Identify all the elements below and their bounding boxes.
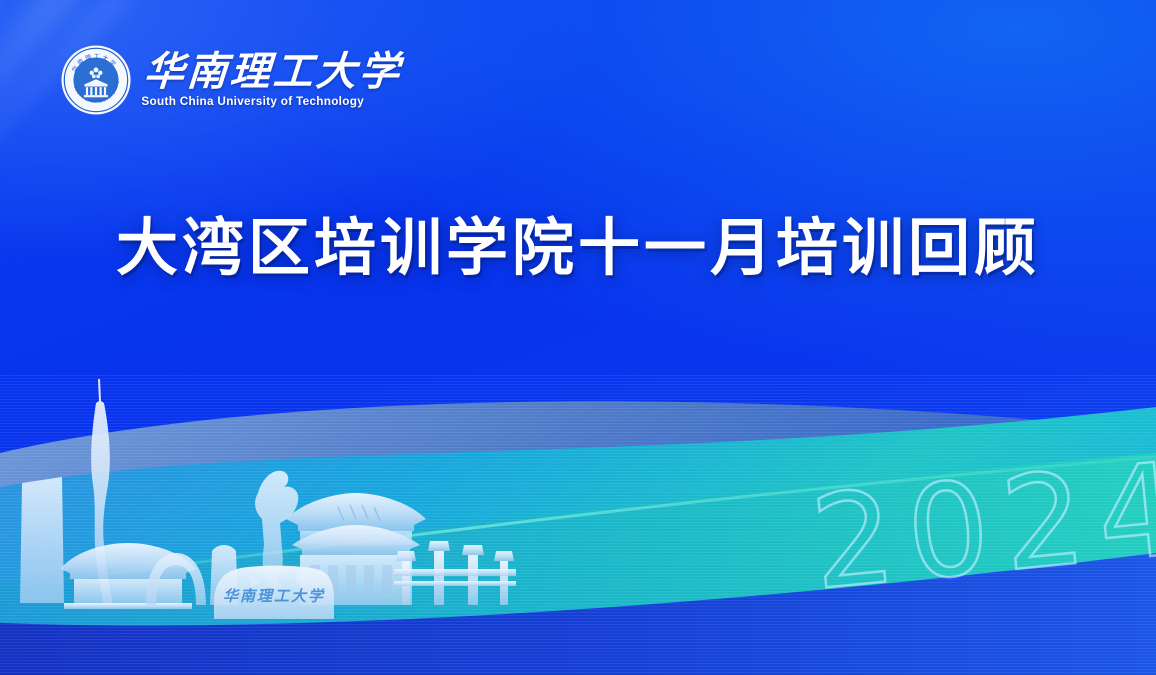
slide-canvas: 华南理工大学 2024 bbox=[0, 0, 1156, 675]
university-name-cn: 华南理工大学 bbox=[143, 52, 404, 92]
university-name-en: South China University of Technology bbox=[141, 97, 404, 109]
slide-title: 大湾区培训学院十一月培训回顾 bbox=[0, 197, 1156, 287]
university-logo: 华南理工大学 SOUTH CHINA UNIVERSITY OF TECHNOL… bbox=[60, 44, 402, 116]
monument-inscription-text: 华南理工大学 bbox=[223, 587, 325, 605]
city-skyline-illustration: 华南理工大学 bbox=[0, 373, 520, 623]
scut-seal-emblem-icon: 华南理工大学 SOUTH CHINA UNIVERSITY OF TECHNOL… bbox=[60, 44, 132, 116]
